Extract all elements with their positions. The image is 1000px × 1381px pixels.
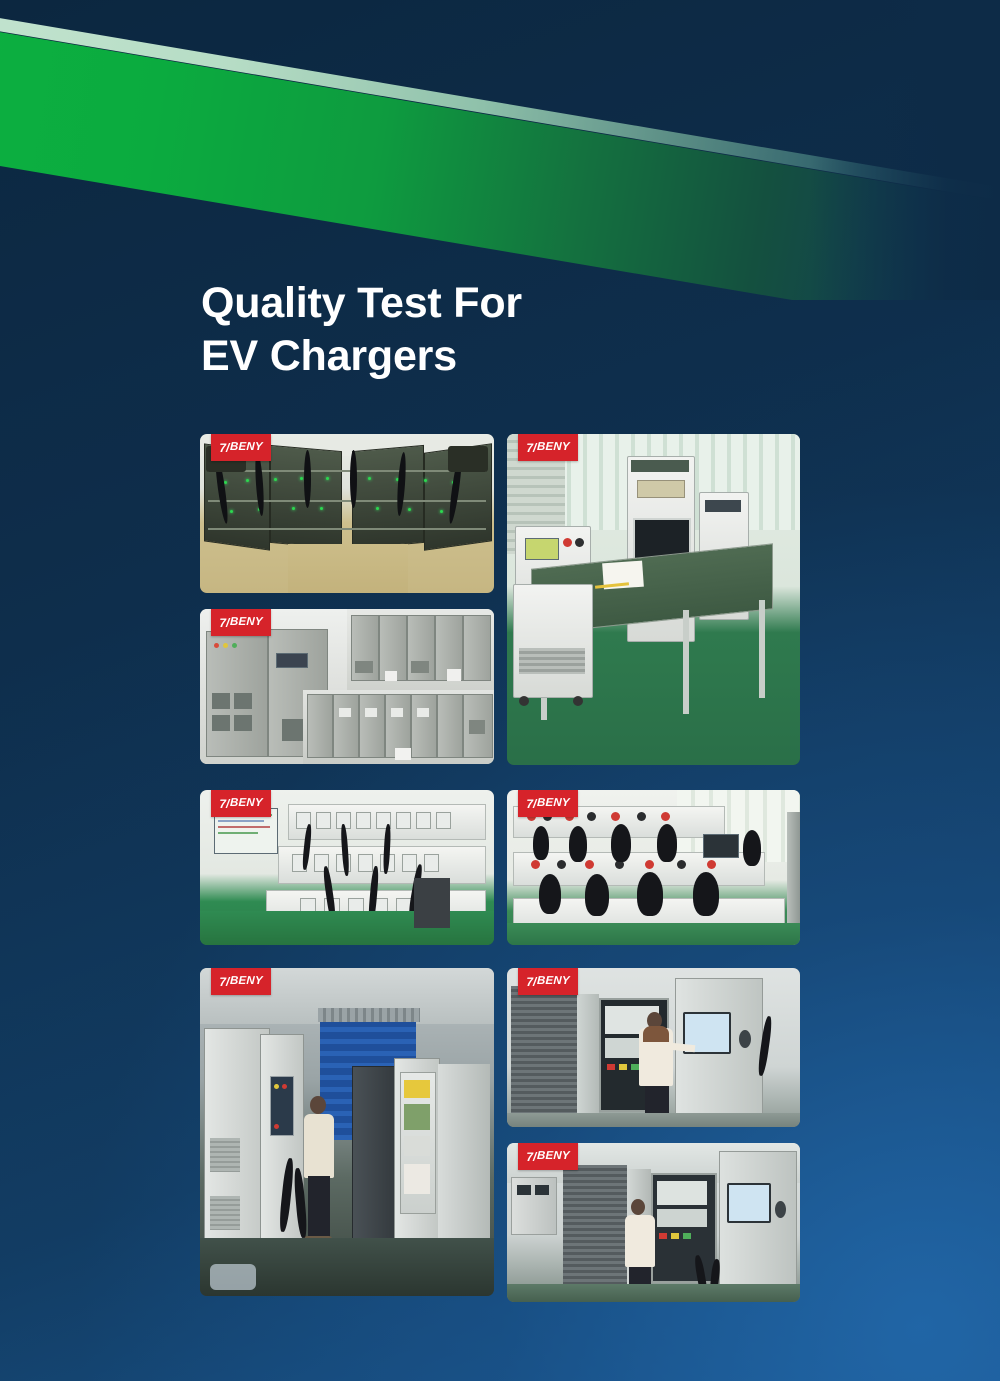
banner-fade-overlay [810, 0, 1000, 300]
gallery-column-right-top: 7/ BENY [507, 434, 800, 765]
photo-operator-at-hmi-panel[interactable]: 7/ BENY [507, 968, 800, 1127]
quality-test-photo-gallery: 7/ BENY [200, 434, 800, 1302]
photo-2-tile-bottom-right [303, 690, 494, 764]
photo-test-bench-with-cables[interactable]: 7/ BENY [200, 790, 494, 945]
beny-logo-mark: 7/ [526, 1150, 536, 1164]
gallery-column-left-middle: 7/ BENY [200, 790, 494, 945]
poster-page: Quality Test For EV Chargers [0, 0, 1000, 1381]
beny-logo-badge: 7/ BENY [518, 1143, 578, 1170]
beny-logo-badge: 7/ BENY [518, 790, 578, 817]
photo-6-worker-body [304, 1114, 334, 1178]
beny-logo-mark: 7/ [526, 797, 536, 811]
beny-logo-mark: 7/ [219, 797, 229, 811]
beny-logo-badge: 7/ BENY [211, 968, 271, 995]
gallery-column-right-middle: 7/ BENY [507, 790, 800, 945]
photo-engineer-at-control-panel[interactable]: 7/ BENY [507, 1143, 800, 1302]
photo-2-tile-top-right [347, 609, 494, 690]
beny-logo-mark: 7/ [526, 975, 536, 989]
gallery-column-left-bottom: 7/ BENY [200, 968, 494, 1302]
photo-technician-testing-dc-cabinets[interactable]: 7/ BENY [200, 968, 494, 1296]
green-diagonal-banner [0, 0, 1000, 300]
photo-8-touchscreen [727, 1183, 771, 1223]
beny-logo-badge: 7/ BENY [211, 609, 271, 636]
beny-logo-mark: 7/ [219, 441, 229, 455]
banner-band [0, 22, 1000, 300]
beny-logo-text: BENY [537, 442, 570, 454]
beny-logo-text: BENY [230, 442, 263, 454]
page-title-line-2: EV Chargers [201, 330, 761, 383]
banner-highlight-stripe [0, 8, 1000, 211]
gallery-row-top: 7/ BENY [200, 434, 800, 765]
gallery-row-bottom: 7/ BENY [200, 968, 800, 1302]
gallery-column-left-top: 7/ BENY [200, 434, 494, 765]
beny-logo-text: BENY [537, 976, 570, 988]
photo-6-scene [200, 968, 494, 1296]
photo-grey-test-cabinets-collage[interactable]: 7/ BENY [200, 609, 494, 764]
beny-logo-badge: 7/ BENY [518, 968, 578, 995]
beny-logo-mark: 7/ [219, 616, 229, 630]
beny-logo-text: BENY [230, 976, 263, 988]
photo-laboratory-test-bench[interactable]: 7/ BENY [507, 434, 800, 765]
beny-logo-badge: 7/ BENY [211, 434, 271, 461]
beny-logo-text: BENY [537, 1151, 570, 1163]
page-title: Quality Test For EV Chargers [201, 277, 761, 383]
beny-logo-mark: 7/ [219, 975, 229, 989]
photo-charging-gun-ageing-bench[interactable]: 7/ BENY [507, 790, 800, 945]
photo-ev-charger-burn-in-racks[interactable]: 7/ BENY [200, 434, 494, 593]
photo-8-worker-head [631, 1199, 645, 1215]
gallery-column-right-bottom: 7/ BENY [507, 968, 800, 1302]
beny-logo-badge: 7/ BENY [211, 790, 271, 817]
photo-3-scene [507, 434, 800, 765]
beny-logo-mark: 7/ [526, 441, 536, 455]
photo-6-worker-head [310, 1096, 326, 1114]
beny-logo-text: BENY [230, 798, 263, 810]
gallery-row-middle: 7/ BENY [200, 790, 800, 945]
page-title-line-1: Quality Test For [201, 277, 761, 330]
photo-6-worker-legs [308, 1176, 330, 1238]
photo-8-worker-body [625, 1215, 655, 1267]
beny-logo-text: BENY [230, 617, 263, 629]
beny-logo-badge: 7/ BENY [518, 434, 578, 461]
beny-logo-text: BENY [537, 798, 570, 810]
